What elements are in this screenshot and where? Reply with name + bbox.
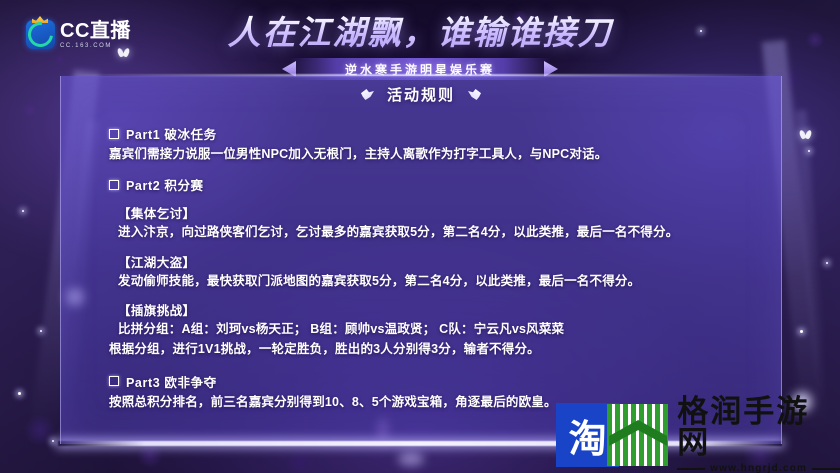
block-line-groups: 比拼分组：A组：刘珂vs杨天正； B组：顾帅vs温政贤； C队：宁云凡vs风菜菜 [109, 320, 759, 339]
rule-section-part1: Part1 破冰任务 嘉宾们需接力说服一位男性NPC加入无根门，主持人离歌作为打… [109, 124, 759, 164]
leaf-ornament-icon [361, 89, 374, 100]
rule-section-part2: Part2 积分赛 【集体乞讨】 进入汴京，向过路侠客们乞讨，乞讨最多的嘉宾获取… [109, 175, 759, 359]
panel-title: 活动规则 [387, 84, 455, 105]
square-bullet-icon [109, 376, 119, 386]
watermark: 淘 格润手游网 www.hngrjd.com [556, 396, 840, 473]
part1-line: 嘉宾们需接力说服一位男性NPC加入无根门，主持人离歌作为打字工具人，与NPC对话… [109, 145, 759, 164]
watermark-text-block: 格润手游网 www.hngrjd.com [677, 396, 840, 473]
glow-particle [398, 452, 424, 466]
part2-title: Part2 积分赛 [126, 175, 204, 194]
block-bracket-title: 【集体乞讨】 [109, 203, 759, 222]
square-bullet-icon [109, 180, 119, 190]
sparkle [18, 392, 21, 395]
watermark-logo: 格润手游网 www.hngrjd.com [607, 396, 840, 473]
screenshot-root: CC直播 CC.163.COM 人在江湖飘，谁输谁接刀 逆水寒手游明星娱乐赛 活… [0, 0, 840, 473]
sparkle [22, 210, 24, 212]
watermark-url-row: www.hngrjd.com [677, 463, 840, 473]
watermark-site-name: 格润手游网 [677, 396, 840, 458]
part2-block-flag-challenge: 【插旗挑战】 比拼分组：A组：刘珂vs杨天正； B组：顾帅vs温政贤； C队：宁… [109, 300, 759, 359]
part1-heading: Part1 破冰任务 [109, 124, 759, 143]
part2-block-jianghu-bandit: 【江湖大盗】 发动偷师技能，最快获取门派地图的嘉宾获取5分，第二名4分，以此类推… [109, 252, 759, 291]
house-icon [607, 404, 668, 466]
sparkle [808, 150, 810, 152]
part3-title: Part3 欧非争夺 [126, 372, 217, 391]
sparkle [52, 440, 54, 442]
page-header: CC直播 CC.163.COM 人在江湖飘，谁输谁接刀 逆水寒手游明星娱乐赛 [0, 0, 840, 84]
butterfly-icon [800, 130, 811, 139]
leaf-ornament-icon [468, 89, 481, 100]
part3-heading: Part3 欧非争夺 [109, 372, 759, 391]
watermark-site-url: www.hngrjd.com [710, 463, 807, 473]
title-block: 人在江湖飘，谁输谁接刀 逆水寒手游明星娱乐赛 [0, 6, 840, 80]
sparkle [40, 330, 42, 332]
sparkle [826, 262, 828, 264]
divider-right [812, 468, 840, 470]
sparkle [800, 330, 803, 333]
part2-block-collective-begging: 【集体乞讨】 进入汴京，向过路侠客们乞讨，乞讨最多的嘉宾获取5分，第二名4分，以… [109, 203, 759, 242]
block-line: 发动偷师技能，最快获取门派地图的嘉宾获取5分，第二名4分，以此类推，最后一名不得… [109, 272, 759, 291]
part2-heading: Part2 积分赛 [109, 175, 759, 194]
part1-title: Part1 破冰任务 [126, 124, 217, 143]
square-bullet-icon [109, 129, 119, 139]
block-line: 进入汴京，向过路侠客们乞讨，乞讨最多的嘉宾获取5分，第二名4分，以此类推，最后一… [109, 223, 759, 242]
block-bracket-title: 【江湖大盗】 [109, 252, 759, 271]
panel-header: 活动规则 [61, 84, 781, 105]
rules-panel: 活动规则 Part1 破冰任务 嘉宾们需接力说服一位男性NPC加入无根门，主持人… [60, 76, 782, 444]
page-title: 人在江湖飘，谁输谁接刀 [0, 6, 840, 54]
block-line-rules: 根据分组，进行1V1挑战，一轮定胜负，胜出的3人分别得3分，输者不得分。 [109, 340, 759, 359]
divider-left [677, 468, 705, 470]
roof-shape [609, 420, 667, 462]
rules-body: Part1 破冰任务 嘉宾们需接力说服一位男性NPC加入无根门，主持人离歌作为打… [109, 124, 759, 417]
block-bracket-title: 【插旗挑战】 [109, 300, 759, 319]
